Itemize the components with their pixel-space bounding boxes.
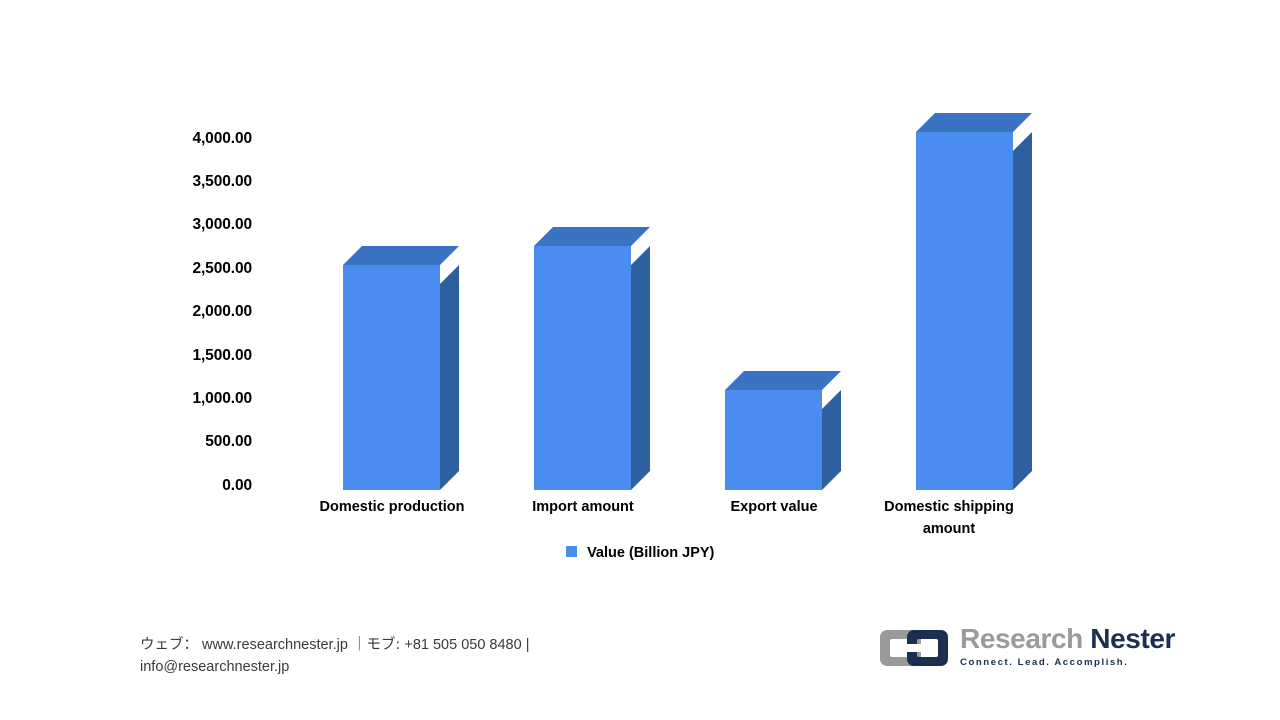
footer-phone-label: モブ: [366, 637, 400, 653]
footer-separator-2: | [526, 637, 530, 653]
bar-side-face [1013, 132, 1032, 490]
y-axis-tick: 1,500.00 [130, 347, 252, 365]
legend-swatch-icon [566, 546, 577, 557]
y-axis-tick: 0.00 [130, 477, 252, 495]
logo-word-research: Research [960, 623, 1083, 654]
y-axis-tick: 2,500.00 [130, 260, 252, 278]
x-axis-label-export-value: Export value [674, 496, 874, 518]
bar-top-face [916, 113, 1032, 132]
bar-front-face [725, 390, 822, 490]
x-axis-label-import-amount: Import amount [483, 496, 683, 518]
chart-legend: Value (Billion JPY) [0, 544, 1280, 562]
footer-separator: ｜ [352, 637, 367, 653]
logo-mark-icon [878, 628, 950, 668]
logo-text: Research Nester Connect. Lead. Accomplis… [960, 622, 1140, 670]
bar-top-face [534, 227, 650, 246]
y-axis-tick: 3,000.00 [130, 216, 252, 234]
bar-front-face [916, 132, 1013, 490]
footer-phone: +81 505 050 8480 [404, 637, 521, 653]
x-axis: Domestic production Import amount Export… [262, 496, 1052, 550]
logo-word-nester: Nester [1090, 623, 1175, 654]
footer-email[interactable]: info@researchnester.jp [140, 659, 289, 675]
bar-front-face [534, 246, 631, 490]
footer-contact-info: ウェブ： www.researchnester.jp ｜モブ: +81 505 … [140, 634, 660, 678]
y-axis-tick: 500.00 [130, 433, 252, 451]
footer-website[interactable]: www.researchnester.jp [202, 637, 348, 653]
bar-side-face [822, 390, 841, 490]
x-axis-label-domestic-shipping-amount: Domestic shipping amount [865, 496, 1033, 540]
y-axis-tick: 1,000.00 [130, 390, 252, 408]
bar-chart-figure: 4,000.00 3,500.00 3,000.00 2,500.00 2,00… [0, 0, 1280, 600]
y-axis-tick: 3,500.00 [130, 173, 252, 191]
legend-item-label: Value (Billion JPY) [587, 545, 714, 561]
y-axis-tick: 4,000.00 [130, 130, 252, 148]
bar-side-face [440, 265, 459, 490]
y-axis-tick: 2,000.00 [130, 303, 252, 321]
logo-wordmark: Research Nester [960, 622, 1140, 656]
bar-top-face [343, 246, 459, 265]
bar-side-face [631, 246, 650, 490]
logo-tagline: Connect. Lead. Accomplish. [960, 656, 1140, 670]
bar-top-face [725, 371, 841, 390]
bar-front-face [343, 265, 440, 490]
research-nester-logo: Research Nester Connect. Lead. Accomplis… [878, 622, 1140, 678]
x-axis-label-domestic-production: Domestic production [292, 496, 492, 518]
plot-area [262, 90, 1052, 490]
footer-web-label: ウェブ： [140, 637, 198, 653]
legend-item-value[interactable]: Value (Billion JPY) [566, 544, 715, 562]
y-axis: 4,000.00 3,500.00 3,000.00 2,500.00 2,00… [130, 120, 252, 500]
